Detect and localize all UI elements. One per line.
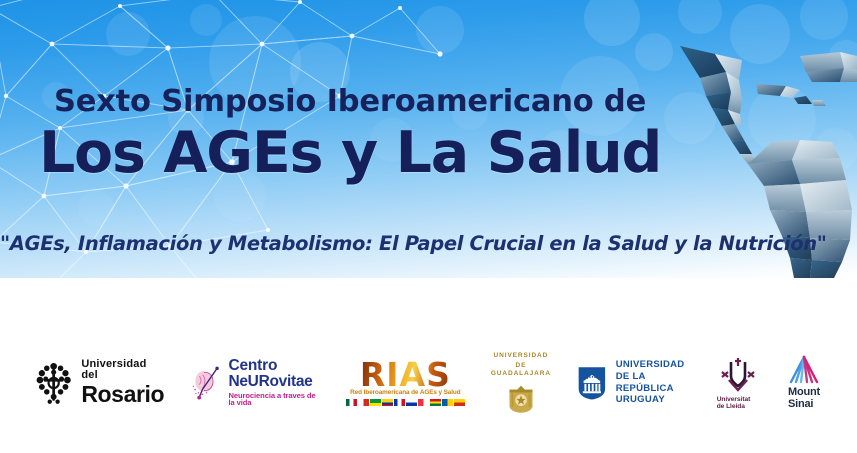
udelar-line-3: URUGUAY	[616, 394, 691, 406]
logo-universitat-de-lleida: Universitat de Lleida	[717, 352, 759, 414]
headline-main: Los AGEs y La Salud	[0, 122, 700, 186]
logo-centro-neurovitae: Centro NeURovitae Neurociencia a traves …	[191, 352, 320, 414]
logo-mount-sinai: Mount Sinai	[785, 352, 823, 414]
udg-seal-icon	[504, 381, 538, 414]
neurovitae-line-2: NeURovitae	[228, 374, 319, 390]
conference-banner: Sexto Simposio Iberoamericano de Los AGE…	[0, 0, 857, 453]
logo-universidad-de-guadalajara: UNIVERSIDAD DE GUADALAJARA	[491, 352, 551, 414]
logo-rias: RIAS Red Iberoamericana de AGEs y Salud	[346, 352, 465, 414]
udelar-line-2: DE LA REPÚBLICA	[616, 371, 691, 395]
neurovitae-line-1: Centro	[228, 358, 319, 374]
rias-flags-icon	[346, 399, 465, 406]
udg-line-2: DE GUADALAJARA	[491, 362, 551, 378]
neurovitae-tagline: Neurociencia a traves de la vida	[228, 392, 319, 407]
rosario-line-1: Universidad del	[81, 359, 165, 381]
banner-subtitle: "AGEs, Inflamación y Metabolismo: El Pap…	[0, 232, 760, 255]
rosario-line-2: Rosario	[81, 383, 165, 406]
lleida-u-icon	[717, 356, 759, 394]
udelar-line-1: UNIVERSIDAD	[616, 359, 691, 371]
logo-universidad-de-la-republica: UNIVERSIDAD DE LA REPÚBLICA URUGUAY	[577, 352, 691, 414]
mount-sinai-line-2: Sinai	[788, 399, 813, 411]
udg-line-1: UNIVERSIDAD	[494, 352, 549, 360]
hero-background: Sexto Simposio Iberoamericano de Los AGE…	[0, 0, 857, 278]
rosario-crest-icon	[34, 359, 73, 407]
headline-block: Sexto Simposio Iberoamericano de Los AGE…	[0, 86, 700, 186]
rias-tagline: Red Iberoamericana de AGEs y Salud	[350, 389, 460, 396]
headline-top: Sexto Simposio Iberoamericano de	[0, 86, 700, 118]
logo-universidad-del-rosario: Universidad del Rosario	[34, 352, 165, 414]
sponsor-logo-strip: Universidad del Rosario Ce	[0, 345, 857, 420]
brain-neuron-icon	[191, 361, 224, 405]
mount-sinai-triangle-icon	[785, 354, 823, 384]
lleida-label: Universitat de Lleida	[717, 396, 759, 410]
udelar-shield-icon	[577, 362, 607, 404]
rias-wordmark: RIAS	[360, 359, 451, 390]
